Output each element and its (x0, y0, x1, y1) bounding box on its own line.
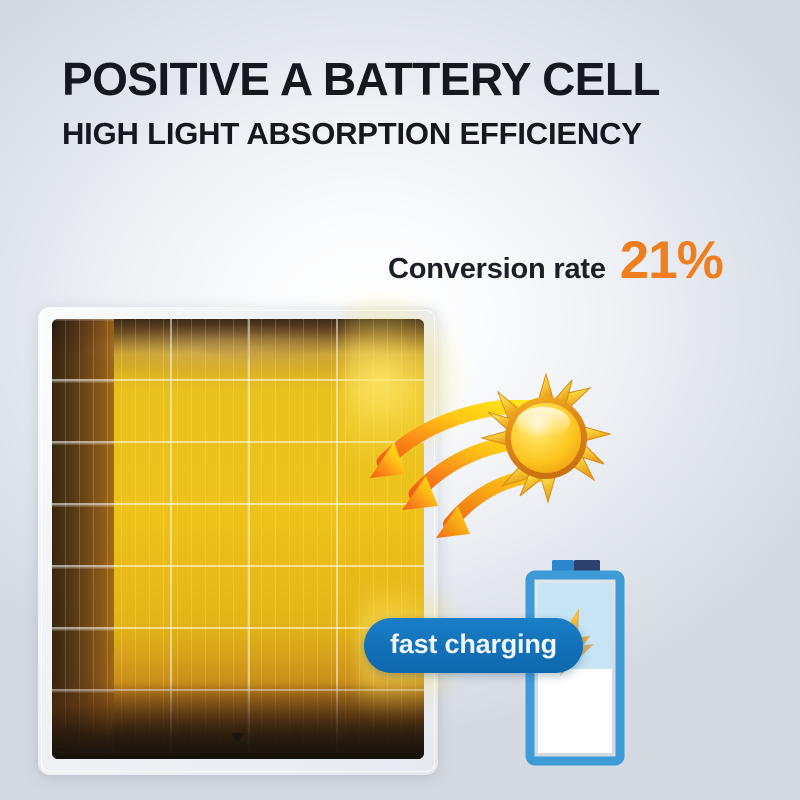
conversion-rate: Conversion rate 21% (388, 234, 723, 287)
solar-panel-bottom-shade (52, 681, 424, 759)
product-banner: POSITIVE A BATTERY CELL HIGH LIGHT ABSOR… (0, 0, 800, 800)
fast-charging-badge[interactable]: fast charging (364, 618, 583, 673)
sun-highlight (516, 407, 570, 437)
page-title: POSITIVE A BATTERY CELL (62, 55, 660, 103)
conversion-rate-value: 21% (620, 234, 723, 287)
solar-panel-reflection (202, 337, 322, 359)
sun-icon (480, 372, 612, 504)
battery-empty-area (538, 669, 612, 753)
page-subtitle: HIGH LIGHT ABSORPTION EFFICIENCY (62, 118, 642, 151)
conversion-rate-label: Conversion rate (388, 253, 606, 286)
